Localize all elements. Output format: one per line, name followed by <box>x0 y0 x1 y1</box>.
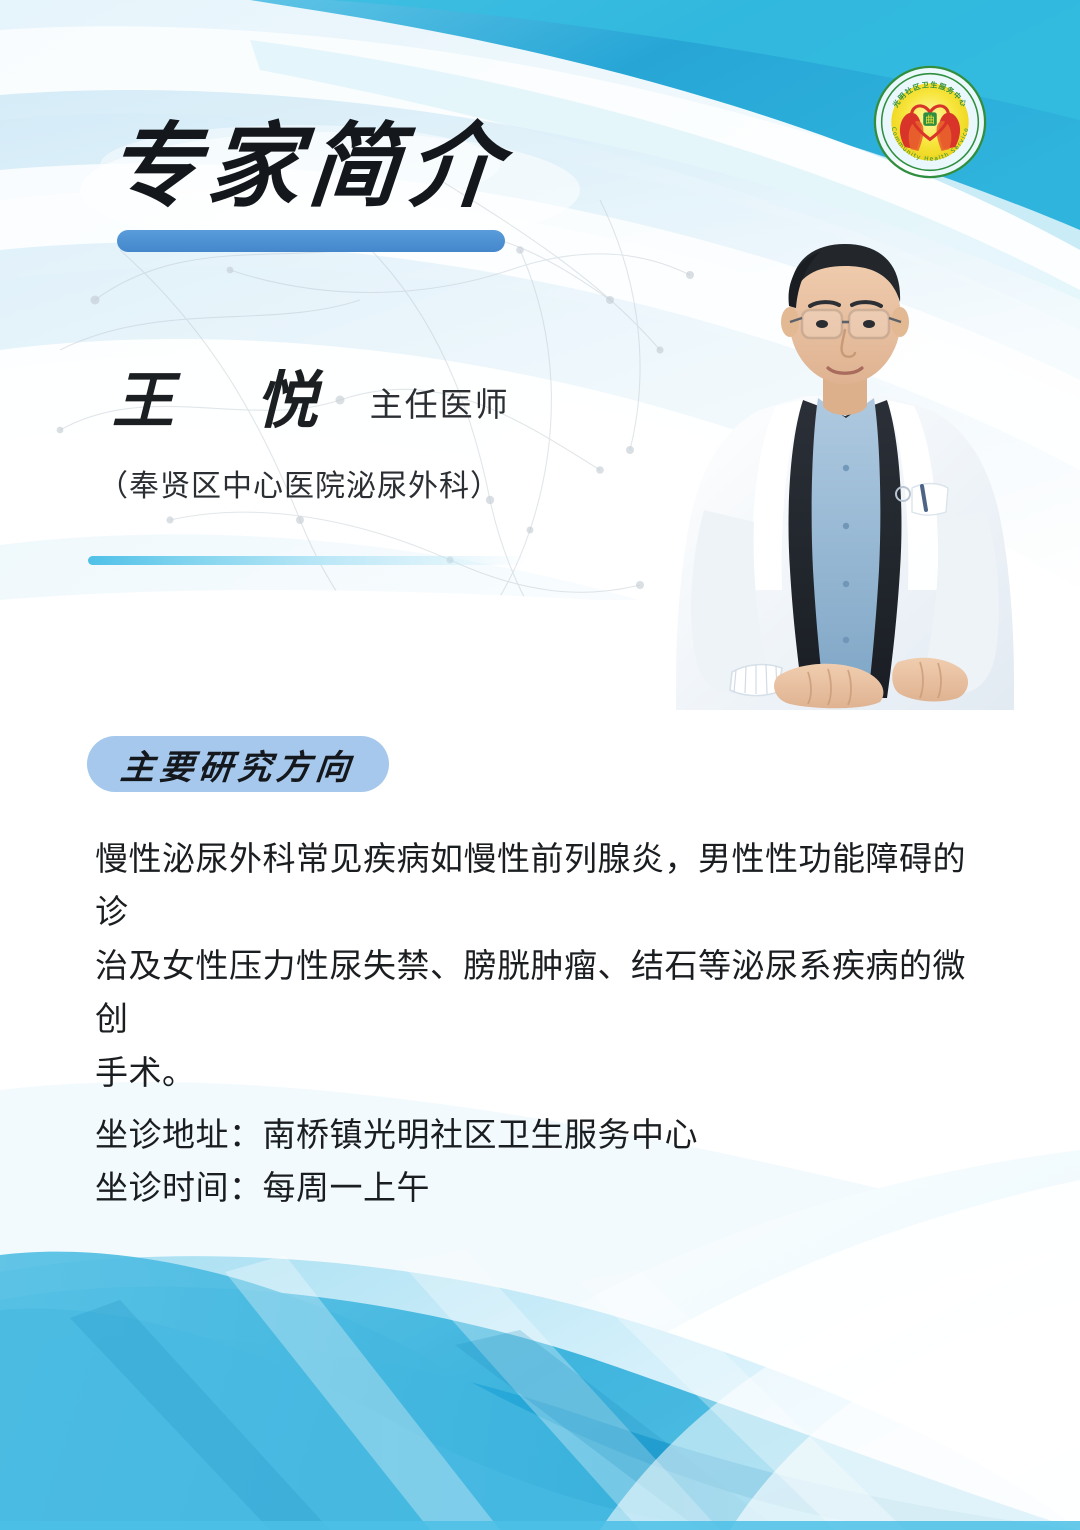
doctor-identity-row: 王 悦 主任医师 <box>112 350 510 440</box>
expert-profile-poster: 光明社区卫生服务中心 Community Health Service 曲 专家… <box>0 0 1080 1530</box>
research-section-label: 主要研究方向 <box>118 740 357 789</box>
logo-svg: 光明社区卫生服务中心 Community Health Service 曲 <box>872 64 988 180</box>
doctor-affiliation: （奉贤区中心医院泌尿外科） <box>98 461 501 505</box>
title-underline-bar <box>117 230 505 252</box>
research-line-3: 手术。 <box>95 1046 995 1099</box>
research-description: 慢性泌尿外科常见疾病如慢性前列腺炎，男性性功能障碍的诊 治及女性压力性尿失禁、膀… <box>95 832 995 1099</box>
doctor-photo-svg <box>640 210 1050 710</box>
clinic-time: 坐诊时间：每周一上午 <box>95 1161 698 1214</box>
doctor-photo <box>640 210 1050 710</box>
doctor-name: 王 悦 <box>112 350 348 440</box>
page-title: 专家简介 <box>104 118 512 215</box>
research-section-badge: 主要研究方向 <box>87 736 389 792</box>
community-health-service-logo: 光明社区卫生服务中心 Community Health Service 曲 <box>872 64 988 180</box>
page-title-block: 专家简介 <box>108 118 508 215</box>
clinic-info-block: 坐诊地址：南桥镇光明社区卫生服务中心 坐诊时间：每周一上午 <box>95 1108 698 1215</box>
section-divider <box>88 556 528 565</box>
research-line-2: 治及女性压力性尿失禁、膀胱肿瘤、结石等泌尿系疾病的微创 <box>95 939 995 1046</box>
clinic-address: 坐诊地址：南桥镇光明社区卫生服务中心 <box>95 1108 698 1161</box>
blue-shirt <box>812 398 881 698</box>
research-line-1: 慢性泌尿外科常见疾病如慢性前列腺炎，男性性功能障碍的诊 <box>95 832 995 939</box>
doctor-rank: 主任医师 <box>370 378 510 426</box>
svg-text:曲: 曲 <box>925 115 935 126</box>
